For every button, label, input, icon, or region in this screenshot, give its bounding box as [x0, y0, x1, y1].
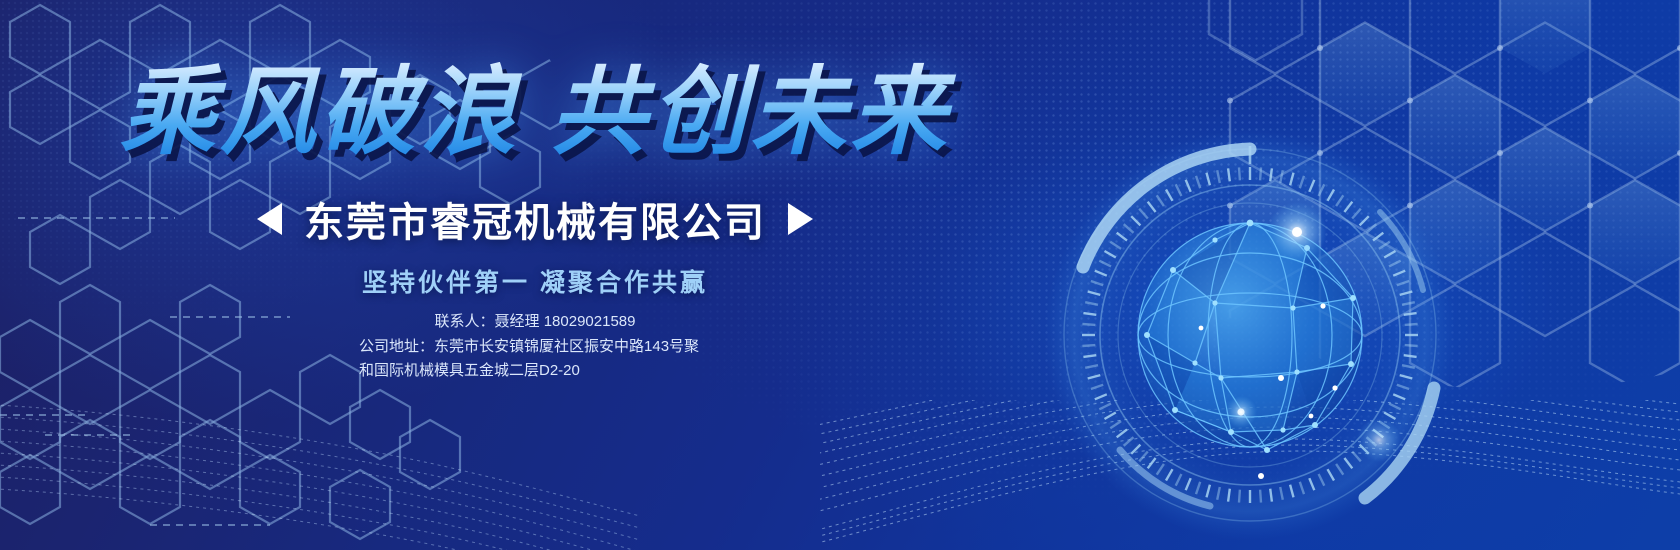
tech-globe-graphic	[1035, 120, 1465, 550]
company-address: 公司地址：东莞市长安镇锦厦社区振安中路143号聚和国际机械模具五金城二层D2-2…	[359, 335, 711, 382]
headline-slogan: 乘风破浪 共创未来	[0, 62, 1070, 164]
contact-person: 联系人：聂经理 18029021589	[0, 310, 1070, 333]
company-name-row: 东莞市睿冠机械有限公司	[0, 190, 1070, 248]
company-name: 东莞市睿冠机械有限公司	[304, 190, 766, 248]
contact-block: 联系人：聂经理 18029021589 公司地址：东莞市长安镇锦厦社区振安中路1…	[0, 310, 1070, 382]
banner-text-content: 乘风破浪 共创未来 东莞市睿冠机械有限公司 坚持伙伴第一 凝聚合作共赢 联系人：…	[0, 0, 1070, 550]
tagline-slogan: 坚持伙伴第一 凝聚合作共赢	[0, 263, 1070, 299]
right-arrow-icon	[788, 203, 813, 235]
promotional-banner: 乘风破浪 共创未来 东莞市睿冠机械有限公司 坚持伙伴第一 凝聚合作共赢 联系人：…	[0, 0, 1680, 550]
address-label: 公司地址：	[359, 338, 434, 355]
left-arrow-icon	[257, 203, 282, 235]
